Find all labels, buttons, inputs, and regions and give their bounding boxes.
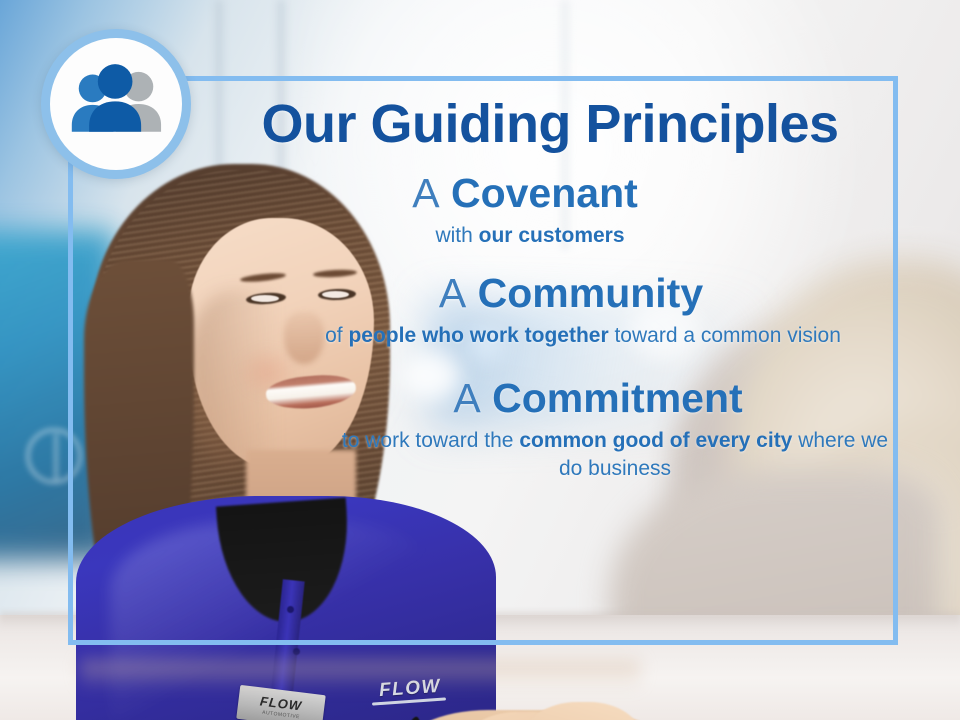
principle-noun: Covenant (451, 170, 638, 216)
shirt-button (293, 648, 300, 655)
principle-commitment: A Commitment to work toward the common g… (200, 376, 900, 482)
principle-subtext: to work toward the common good of every … (200, 427, 900, 482)
principle-sub-lead: with (435, 224, 478, 247)
text-content: Our Guiding Principles A Covenant with o… (200, 86, 900, 646)
principle-subtext: of people who work together toward a com… (200, 322, 900, 350)
page-title: Our Guiding Principles (200, 96, 900, 153)
desk-reflection (80, 660, 640, 690)
principle-article: A (412, 170, 439, 216)
principle-article: A (439, 270, 466, 316)
people-group-icon (64, 64, 168, 144)
principle-noun: Commitment (492, 375, 743, 421)
principle-heading: A Covenant (200, 171, 900, 217)
principle-covenant: A Covenant with our customers (200, 171, 900, 250)
principle-noun: Community (478, 270, 704, 316)
principle-sub-bold: common good of every city (519, 429, 792, 452)
principle-subtext: with our customers (200, 222, 900, 250)
people-badge-circle (41, 29, 191, 179)
principle-heading: A Commitment (200, 376, 900, 422)
principle-sub-tail: toward a common vision (609, 324, 841, 347)
principle-heading: A Community (200, 271, 900, 317)
principle-article: A (453, 375, 480, 421)
principle-sub-lead: of (325, 324, 348, 347)
principle-sub-bold: our customers (479, 224, 625, 247)
guiding-principles-graphic: FLOW AUTOMOTIVE FLOW (0, 0, 960, 720)
principle-community: A Community of people who work together … (200, 271, 900, 350)
principle-sub-bold: people who work together (348, 324, 608, 347)
principle-sub-lead: to work toward the (342, 429, 519, 452)
